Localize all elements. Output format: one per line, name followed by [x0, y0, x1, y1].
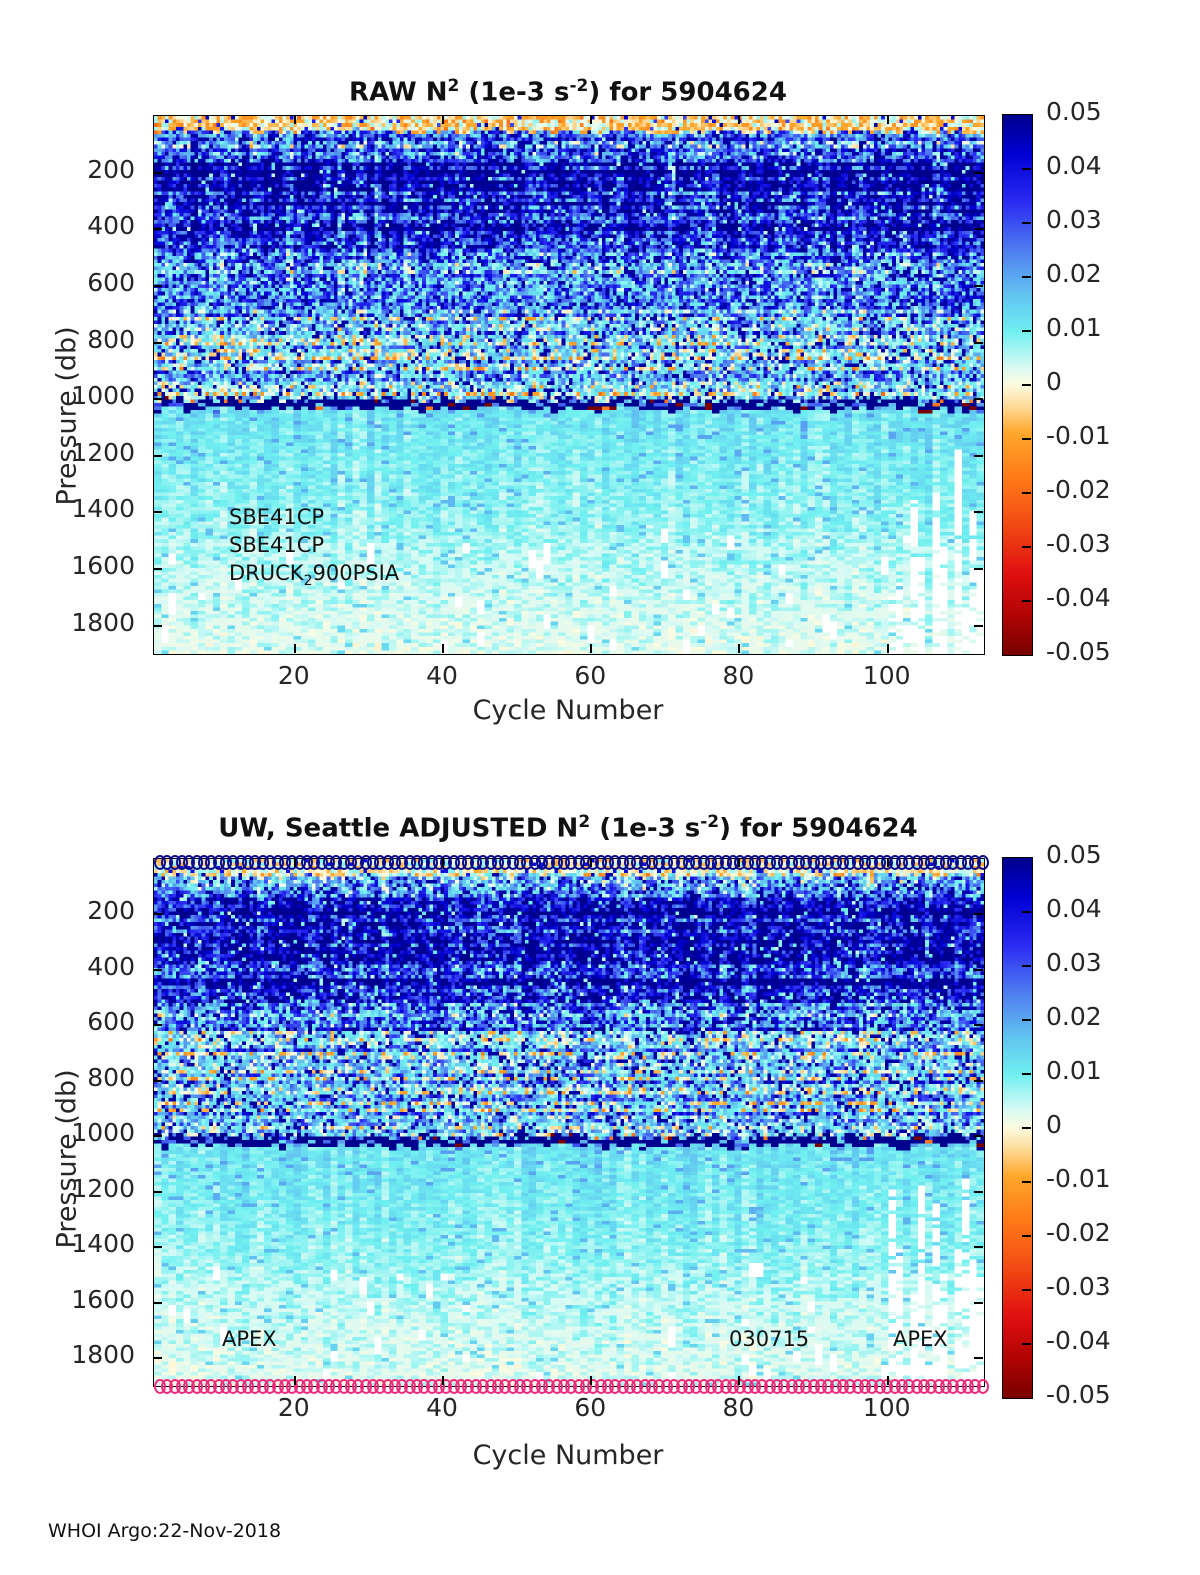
y-tick-label: 600 — [5, 268, 135, 297]
x-tick-label: 60 — [545, 1393, 635, 1422]
y-tick-mark — [153, 625, 162, 627]
title-exponent-2-adj: -2 — [700, 812, 719, 832]
x-axis-label-adjusted: Cycle Number — [153, 1440, 983, 1471]
y-tick-mark — [974, 1080, 983, 1082]
x-tick-label: 100 — [842, 1393, 932, 1422]
title-text-mid: (1e-3 s — [459, 78, 569, 108]
pressure-sensor-range: 900PSIA — [313, 561, 400, 585]
y-tick-mark — [153, 172, 162, 174]
colorbar-tick-mark — [1022, 1343, 1031, 1345]
x-tick-mark — [442, 1376, 444, 1385]
colorbar-tick-label: -0.04 — [1046, 1326, 1111, 1355]
y-tick-mark — [974, 228, 983, 230]
y-tick-mark — [974, 455, 983, 457]
x-tick-mark — [887, 858, 889, 867]
colorbar-tick-label: 0.04 — [1046, 894, 1102, 923]
y-tick-label: 1800 — [5, 608, 135, 637]
y-tick-label: 400 — [5, 211, 135, 240]
y-tick-label: 1800 — [5, 1340, 135, 1369]
y-tick-label: 800 — [5, 1063, 135, 1092]
colorbar-tick-label: -0.02 — [1046, 1218, 1111, 1247]
y-tick-label: 1400 — [5, 1229, 135, 1258]
colorbar-tick-mark — [1022, 965, 1031, 967]
y-tick-mark — [974, 913, 983, 915]
x-tick-mark — [887, 644, 889, 653]
x-tick-mark — [442, 115, 444, 124]
colorbar-tick-label: 0.03 — [1046, 205, 1102, 234]
x-tick-mark — [590, 115, 592, 124]
y-tick-mark — [153, 969, 162, 971]
y-tick-label: 400 — [5, 952, 135, 981]
y-tick-mark — [974, 1246, 983, 1248]
colorbar-tick-mark — [1022, 911, 1031, 913]
x-tick-mark — [294, 858, 296, 867]
title-exponent-1-adj: 2 — [578, 812, 590, 832]
y-tick-mark — [974, 1135, 983, 1137]
colorbar-tick-label: 0.03 — [1046, 948, 1102, 977]
x-tick-mark — [738, 644, 740, 653]
x-tick-mark — [590, 644, 592, 653]
x-tick-label: 80 — [693, 1393, 783, 1422]
colorbar-tick-mark — [1022, 1235, 1031, 1237]
colorbar-tick-mark — [1022, 438, 1031, 440]
y-tick-mark — [153, 1302, 162, 1304]
x-tick-mark — [442, 644, 444, 653]
y-tick-mark — [974, 1191, 983, 1193]
y-tick-mark — [153, 455, 162, 457]
colorbar-tick-mark — [1022, 600, 1031, 602]
title-text-prefix-adj: UW, Seattle ADJUSTED N — [218, 814, 578, 844]
colorbar-tick-mark — [1022, 1127, 1031, 1129]
y-tick-mark — [974, 1024, 983, 1026]
y-tick-label: 200 — [5, 896, 135, 925]
annotation-sensor-ctd-1: SBE41CP — [229, 505, 324, 529]
x-tick-label: 80 — [693, 661, 783, 690]
colorbar-tick-label: 0.05 — [1046, 840, 1102, 869]
y-tick-mark — [153, 1024, 162, 1026]
y-tick-mark — [153, 568, 162, 570]
y-tick-mark — [153, 1246, 162, 1248]
y-tick-label: 1600 — [5, 1285, 135, 1314]
y-tick-mark — [974, 969, 983, 971]
annotation-sensor-pressure: DRUCK2900PSIA — [229, 561, 399, 589]
colorbar-tick-label: 0.01 — [1046, 313, 1102, 342]
x-tick-label: 40 — [397, 661, 487, 690]
title-exponent-1: 2 — [448, 76, 460, 96]
y-tick-mark — [974, 1357, 983, 1359]
x-tick-mark — [442, 858, 444, 867]
figure-footer: WHOI Argo:22-Nov-2018 — [48, 1520, 281, 1542]
colorbar-tick-label: 0.05 — [1046, 97, 1102, 126]
x-tick-mark — [887, 1376, 889, 1385]
plot-area-adjusted — [153, 858, 985, 1387]
y-tick-mark — [153, 913, 162, 915]
y-tick-mark — [974, 625, 983, 627]
y-tick-mark — [153, 398, 162, 400]
panel-raw-title: RAW N2 (1e-3 s-2) for 5904624 — [153, 76, 983, 108]
colorbar-tick-mark — [1022, 384, 1031, 386]
argo-n2-figure: RAW N2 (1e-3 s-2) for 5904624 Pressure (… — [0, 0, 1200, 1575]
annotation-sensor-ctd-2: SBE41CP — [229, 533, 324, 557]
y-tick-label: 1000 — [5, 1118, 135, 1147]
y-tick-label: 200 — [5, 155, 135, 184]
x-tick-mark — [294, 1376, 296, 1385]
annotation-float-type-left: APEX — [222, 1327, 277, 1351]
heatmap-adjusted — [154, 859, 984, 1386]
x-tick-label: 40 — [397, 1393, 487, 1422]
x-tick-label: 100 — [842, 661, 932, 690]
y-tick-mark — [974, 398, 983, 400]
y-tick-mark — [974, 568, 983, 570]
colorbar-tick-mark — [1022, 492, 1031, 494]
y-tick-mark — [974, 1302, 983, 1304]
x-axis-label-raw: Cycle Number — [153, 695, 983, 726]
y-tick-mark — [974, 342, 983, 344]
y-tick-label: 600 — [5, 1007, 135, 1036]
colorbar-tick-label: -0.05 — [1046, 637, 1111, 666]
colorbar-tick-label: 0 — [1046, 367, 1062, 396]
colorbar-tick-label: 0.02 — [1046, 259, 1102, 288]
colorbar-tick-label: 0 — [1046, 1110, 1062, 1139]
x-tick-mark — [738, 1376, 740, 1385]
colorbar-tick-mark — [1022, 546, 1031, 548]
x-tick-mark — [887, 115, 889, 124]
x-tick-label: 60 — [545, 661, 635, 690]
y-tick-mark — [974, 511, 983, 513]
y-tick-label: 1400 — [5, 494, 135, 523]
y-tick-mark — [153, 1357, 162, 1359]
x-tick-mark — [590, 1376, 592, 1385]
pressure-sensor-subscript: 2 — [304, 573, 313, 589]
colorbar-tick-mark — [1022, 1289, 1031, 1291]
colorbar-tick-label: -0.01 — [1046, 421, 1111, 450]
x-tick-mark — [738, 858, 740, 867]
y-tick-label: 1200 — [5, 1174, 135, 1203]
colorbar-tick-label: -0.02 — [1046, 475, 1111, 504]
y-tick-mark — [153, 1080, 162, 1082]
y-tick-label: 800 — [5, 325, 135, 354]
colorbar-tick-mark — [1022, 1181, 1031, 1183]
colorbar-tick-label: -0.04 — [1046, 583, 1111, 612]
y-tick-mark — [153, 285, 162, 287]
title-text-suffix: ) for 5904624 — [588, 78, 787, 108]
colorbar-tick-mark — [1022, 168, 1031, 170]
colorbar-tick-label: -0.03 — [1046, 529, 1111, 558]
panel-adjusted-title: UW, Seattle ADJUSTED N2 (1e-3 s-2) for 5… — [153, 812, 983, 844]
y-tick-mark — [153, 342, 162, 344]
x-tick-mark — [590, 858, 592, 867]
y-tick-mark — [153, 511, 162, 513]
colorbar-tick-mark — [1022, 1019, 1031, 1021]
colorbar-tick-label: -0.01 — [1046, 1164, 1111, 1193]
colorbar-tick-mark — [1022, 276, 1031, 278]
pressure-sensor-brand: DRUCK — [229, 561, 304, 585]
title-exponent-2: -2 — [569, 76, 588, 96]
y-tick-label: 1200 — [5, 438, 135, 467]
x-tick-mark — [294, 115, 296, 124]
y-tick-mark — [153, 228, 162, 230]
colorbar-tick-mark — [1022, 1073, 1031, 1075]
title-text-suffix-adj: ) for 5904624 — [719, 814, 918, 844]
title-text-prefix: RAW N — [349, 78, 447, 108]
colorbar-tick-mark — [1022, 222, 1031, 224]
colorbar-tick-label: -0.03 — [1046, 1272, 1111, 1301]
y-tick-mark — [974, 172, 983, 174]
colorbar-tick-label: 0.02 — [1046, 1002, 1102, 1031]
x-tick-label: 20 — [249, 661, 339, 690]
annotation-deployment-date: 030715 — [729, 1327, 809, 1351]
annotation-float-type-right: APEX — [893, 1327, 948, 1351]
colorbar-tick-label: 0.04 — [1046, 151, 1102, 180]
colorbar-tick-label: 0.01 — [1046, 1056, 1102, 1085]
colorbar-tick-mark — [1022, 330, 1031, 332]
colorbar-tick-label: -0.05 — [1046, 1380, 1111, 1409]
x-tick-label: 20 — [249, 1393, 339, 1422]
y-tick-mark — [153, 1191, 162, 1193]
x-tick-mark — [294, 644, 296, 653]
y-tick-mark — [153, 1135, 162, 1137]
y-tick-label: 1000 — [5, 381, 135, 410]
title-text-mid-adj: (1e-3 s — [590, 814, 700, 844]
y-tick-mark — [974, 285, 983, 287]
y-tick-label: 1600 — [5, 551, 135, 580]
x-tick-mark — [738, 115, 740, 124]
